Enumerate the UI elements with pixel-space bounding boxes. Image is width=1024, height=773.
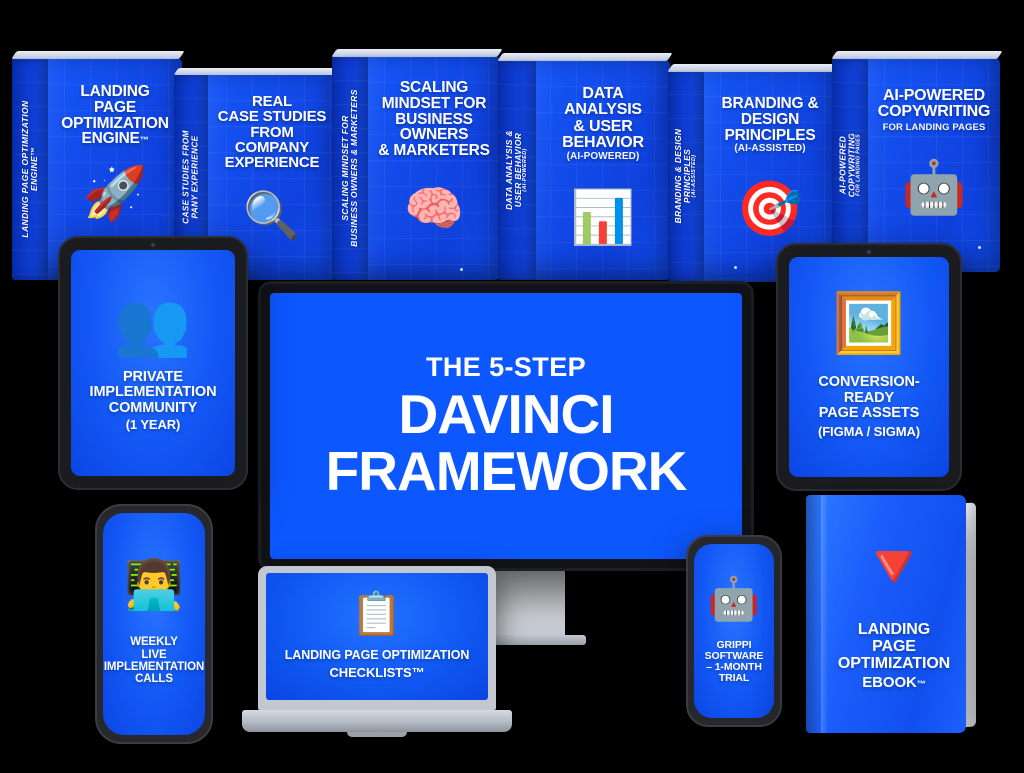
tablet-private-implementation-community[interactable]: 👥 PRIVATEIMPLEMENTATIONCOMMUNITY (1 YEAR… — [58, 236, 248, 490]
box-top-cap — [11, 51, 184, 59]
box-top-cap — [174, 68, 339, 75]
ebook-hinge-highlight — [821, 495, 828, 733]
phone-title: WEEKLYLIVEIMPLEMENTATIONCALLS — [103, 636, 205, 685]
laptop-subtitle: CHECKLISTS™ — [324, 666, 431, 680]
box-art-magnifier-checklist-icon: 🔍 — [208, 192, 336, 238]
box-title: DATAANALYSIS& USERBEHAVIOR (AI-POWERED) — [536, 86, 670, 162]
box-title: SCALINGMINDSET FORBUSINESSOWNERS& MARKET… — [368, 80, 500, 159]
laptop-screen: 📋 LANDING PAGE OPTIMIZATION CHECKLISTS™ — [266, 573, 488, 700]
box-art-rocket-icon: 🚀 — [48, 168, 182, 220]
sparkle-dot — [460, 268, 463, 271]
laptop-art-checklist-icon: 📋 — [351, 593, 403, 635]
tablet-screen: 👥 PRIVATEIMPLEMENTATIONCOMMUNITY (1 YEAR… — [71, 250, 235, 476]
monitor-bezel: THE 5-STEP DAVINCI FRAMEWORK — [258, 281, 754, 571]
laptop-title: LANDING PAGE OPTIMIZATION — [279, 649, 476, 662]
monitor-davinci-framework[interactable]: THE 5-STEP DAVINCI FRAMEWORK — [258, 281, 754, 571]
box-title: AI-POWEREDCOPYWRITING FOR LANDING PAGES — [868, 88, 1000, 132]
sparkle-dot — [734, 266, 737, 269]
phone-art-support-agent-icon: 👨‍💻 — [124, 562, 184, 610]
box-spine: SCALING MINDSET FORBUSINESS OWNERS & MAR… — [332, 56, 368, 280]
phone-screen: 👨‍💻 WEEKLYLIVEIMPLEMENTATIONCALLS — [103, 513, 205, 735]
product-bundle-mockup: LANDING PAGE OPTIMIZATIONENGINE™ LANDING… — [0, 0, 1024, 773]
phone-grippi-software-trial[interactable]: 🤖 GRIPPISOFTWARE– 1-MONTHTRIAL — [686, 535, 782, 727]
box-top-cap — [497, 53, 672, 61]
monitor-title-line2: FRAMEWORK — [326, 442, 687, 500]
tablet-title: CONVERSION-READYPAGE ASSETS (FIGMA / SIG… — [789, 375, 949, 438]
box-title: BRANDING &DESIGNPRINCIPLES (AI-ASSISTED) — [704, 96, 836, 155]
ebook-subtitle: EBOOK™ — [856, 675, 931, 691]
laptop-base — [242, 710, 512, 732]
ebook-title: LANDING PAGEOPTIMIZATION — [828, 621, 960, 672]
box-title: REALCASE STUDIESFROMCOMPANYEXPERIENCE — [208, 94, 336, 170]
laptop-lid: 📋 LANDING PAGE OPTIMIZATION CHECKLISTS™ — [258, 566, 496, 710]
monitor-eyebrow: THE 5-STEP — [426, 352, 586, 383]
tablet-title: PRIVATEIMPLEMENTATIONCOMMUNITY (1 YEAR) — [84, 370, 223, 432]
laptop-trackpad-notch — [347, 732, 407, 737]
box-art-target-bulb-icon: 🎯 — [704, 182, 836, 236]
box-top-cap — [831, 51, 1002, 59]
box-spine-label: AI-POWEREDCOPYWRITING FOR LANDING PAGES — [838, 79, 861, 251]
box-top-cap — [667, 64, 838, 72]
box-art-brain-chip-icon: 🧠 — [368, 186, 500, 234]
box-art-robot-document-icon: 🤖 — [868, 162, 1000, 214]
box-spine: AI-POWEREDCOPYWRITING FOR LANDING PAGES — [832, 58, 868, 272]
ebook-landing-page-optimization[interactable]: 🔻 LANDING PAGEOPTIMIZATION EBOOK™ — [806, 495, 966, 733]
phone-weekly-live-implementation-calls[interactable]: 👨‍💻 WEEKLYLIVEIMPLEMENTATIONCALLS — [95, 504, 213, 744]
product-box-scaling-mindset[interactable]: SCALING MINDSET FORBUSINESS OWNERS & MAR… — [332, 56, 500, 280]
box-spine-label: LANDING PAGE OPTIMIZATIONENGINE™ — [21, 69, 39, 269]
box-spine-label: DATA ANALYSIS &USER BEHAVIOR (AI-POWERED… — [505, 70, 529, 270]
ebook-hinge-shadow — [806, 495, 821, 733]
box-spine: BRANDING & DESIGNPRINCIPLES (AI-ASSISTED… — [668, 70, 704, 282]
box-art-bar-chart-icon: 📊 — [536, 192, 670, 244]
phone-screen: 🤖 GRIPPISOFTWARE– 1-MONTHTRIAL — [694, 544, 774, 718]
product-box-ai-powered-copywriting[interactable]: AI-POWEREDCOPYWRITING FOR LANDING PAGES … — [832, 58, 1000, 272]
tablet-conversion-ready-page-assets[interactable]: 🖼️ CONVERSION-READYPAGE ASSETS (FIGMA / … — [776, 243, 962, 491]
product-box-data-analysis-user-behavior[interactable]: DATA ANALYSIS &USER BEHAVIOR (AI-POWERED… — [498, 60, 670, 280]
tablet-subtitle: (FIGMA / SIGMA) — [795, 425, 943, 439]
laptop-landing-page-optimization-checklists[interactable]: 📋 LANDING PAGE OPTIMIZATION CHECKLISTS™ — [258, 566, 496, 742]
box-spine-label: SCALING MINDSET FORBUSINESS OWNERS & MAR… — [341, 65, 359, 271]
box-spine: LANDING PAGE OPTIMIZATIONENGINE™ — [12, 58, 48, 280]
box-spine-label: BRANDING & DESIGNPRINCIPLES (AI-ASSISTED… — [674, 81, 698, 271]
tablet-camera-icon — [151, 243, 155, 247]
box-spine: DATA ANALYSIS &USER BEHAVIOR (AI-POWERED… — [498, 60, 536, 280]
monitor-screen: THE 5-STEP DAVINCI FRAMEWORK — [270, 293, 742, 559]
tablet-art-community-icon: 👥 — [114, 294, 191, 356]
ebook-art-funnel-icon: 🔻 — [855, 537, 932, 599]
monitor-title-line1: DAVINCI — [398, 387, 613, 442]
tablet-art-page-assets-icon: 🖼️ — [833, 295, 905, 353]
phone-art-robot-icon: 🤖 — [708, 578, 760, 620]
box-title: LANDINGPAGEOPTIMIZATIONENGINE™ — [48, 84, 182, 147]
phone-title: GRIPPISOFTWARE– 1-MONTHTRIAL — [699, 640, 770, 685]
sparkle-dot — [978, 246, 981, 249]
tablet-screen: 🖼️ CONVERSION-READYPAGE ASSETS (FIGMA / … — [789, 257, 949, 477]
tablet-subtitle: (1 YEAR) — [90, 418, 217, 432]
tablet-camera-icon — [867, 250, 871, 254]
ebook-cover: 🔻 LANDING PAGEOPTIMIZATION EBOOK™ — [806, 495, 966, 733]
box-top-cap — [331, 49, 502, 57]
